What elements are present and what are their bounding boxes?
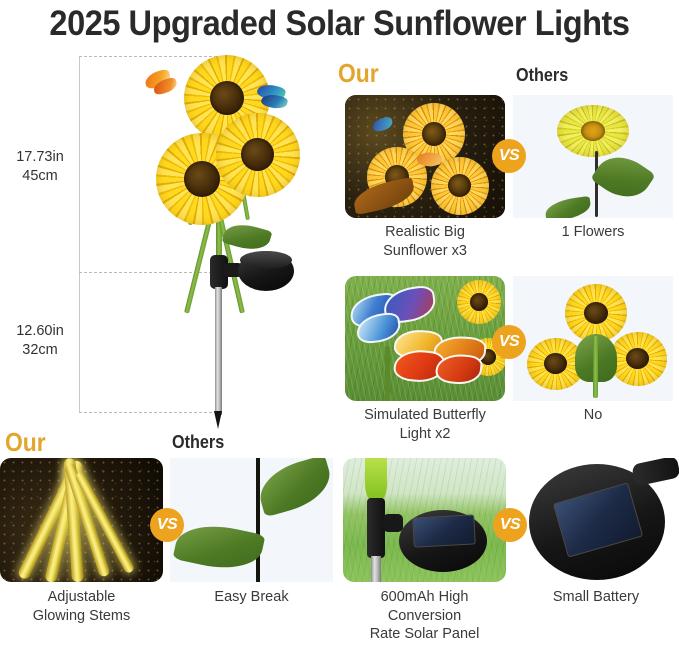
stake-pole-tip (214, 411, 222, 429)
caption-our-row2: Simulated Butterfly Light x2 (341, 406, 509, 443)
solar-lamp-top-face (240, 251, 292, 269)
caption-line: Simulated Butterfly (341, 406, 509, 425)
measure-label-lower: 12.60in 32cm (5, 322, 75, 360)
sunflower-core (544, 353, 567, 374)
caption-others-row3: Easy Break (170, 588, 333, 607)
others-photo-single-flower (513, 95, 673, 218)
sunflower-core (626, 348, 649, 369)
our-photo-realistic-sunflowers (345, 95, 505, 218)
vs-badge-row1: VS (492, 139, 526, 173)
others-label-row3: Others (172, 432, 224, 453)
caption-others-row4: Small Battery (513, 588, 679, 607)
our-photo-glowing-stems (0, 458, 163, 582)
measure-label-upper: 17.73in 45cm (5, 148, 75, 186)
solar-panel-cell (412, 514, 475, 547)
caption-line: Realistic Big (345, 223, 505, 242)
caption-line: Adjustable (0, 588, 163, 607)
our-photo-butterfly-lights (345, 276, 505, 401)
our-label-row1: Our (338, 58, 379, 89)
caption-others-row2: No (513, 406, 673, 425)
caption-line: 600mAh High (343, 588, 506, 607)
others-label-row1: Others (516, 65, 568, 86)
caption-line: Glowing Stems (0, 607, 163, 626)
sunflower-right (216, 113, 300, 197)
stake-pole-photo (371, 556, 381, 582)
measure-lower-cm: 32cm (5, 341, 75, 360)
page-title: 2025 Upgraded Solar Sunflower Lights (24, 4, 655, 44)
sunflower-core (470, 293, 488, 311)
green-stem-top (365, 458, 387, 502)
caption-others-row1: 1 Flowers (513, 223, 673, 242)
sunflower-core (448, 174, 471, 197)
vs-badge-row2: VS (492, 325, 526, 359)
sunflower-core (581, 121, 605, 141)
caption-line: Rate Solar Panel (343, 625, 506, 644)
leaf-lower-left (173, 518, 266, 577)
infographic-page: 2025 Upgraded Solar Sunflower Lights 17.… (0, 0, 679, 647)
our-photo-solar-panel (343, 458, 506, 582)
caption-line: Light x2 (341, 425, 509, 444)
stake-pole (215, 287, 222, 415)
measure-upper-cm: 45cm (5, 167, 75, 186)
others-photo-small-battery (513, 458, 679, 582)
caption-line: Conversion (343, 607, 506, 626)
measure-vertical-guide (79, 56, 80, 413)
product-photo-sunflower-stake (88, 55, 320, 415)
others-photo-no-butterfly (513, 276, 673, 401)
sunflower-yellow-right (609, 332, 667, 386)
caption-line: 1 Flowers (513, 223, 673, 242)
leaf-upper-right (253, 458, 333, 517)
butterfly-orange-large (391, 327, 488, 388)
sunflower-core (241, 138, 274, 171)
vs-badge-row4: VS (493, 508, 527, 542)
sunflower-pale-single (557, 105, 629, 157)
caption-line: Small Battery (513, 588, 679, 607)
stem-center (593, 336, 598, 398)
lamp-arm (631, 458, 679, 487)
caption-our-row3: Adjustable Glowing Stems (0, 588, 163, 625)
caption-line: Sunflower x3 (345, 242, 505, 261)
caption-line: No (513, 406, 673, 425)
caption-line: Easy Break (170, 588, 333, 607)
butterfly-wing (417, 151, 443, 168)
caption-our-row4: 600mAh High Conversion Rate Solar Panel (343, 588, 506, 644)
measure-upper-inches: 17.73in (5, 148, 75, 167)
our-label-row3: Our (5, 427, 46, 458)
panel-hinge (383, 514, 403, 532)
sunflower-core (422, 122, 446, 146)
sunflower-core (584, 302, 608, 324)
sunflower-core (184, 161, 220, 197)
sunflower-core (210, 81, 244, 115)
sunflower-background-top (457, 280, 501, 324)
vs-badge-row3: VS (150, 508, 184, 542)
plastic-stem-vertical (256, 458, 260, 582)
caption-our-row1: Realistic Big Sunflower x3 (345, 223, 505, 260)
others-photo-easy-break (170, 458, 333, 582)
leaf-single-bottom (544, 196, 592, 218)
measure-lower-inches: 12.60in (5, 322, 75, 341)
stem-in-photo (385, 346, 390, 401)
